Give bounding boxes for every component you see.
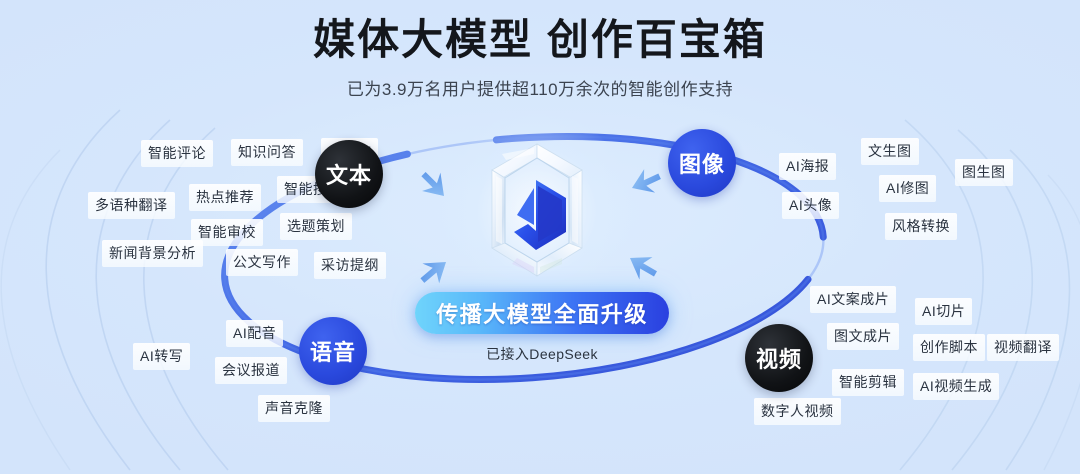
capability-chip-text-9[interactable]: 公文写作 [226,249,298,276]
capability-chip-voice-0[interactable]: AI配音 [226,320,283,347]
hub-node-image-label: 图像 [679,147,725,179]
page-title: 媒体大模型 创作百宝箱 [0,14,1080,67]
capability-chip-video-7[interactable]: 数字人视频 [754,398,841,425]
capability-chip-image-5[interactable]: 风格转换 [885,213,957,240]
capability-chip-video-5[interactable]: 智能剪辑 [832,369,904,396]
capability-chip-text-10[interactable]: 采访提纲 [314,252,386,279]
capability-chip-voice-1[interactable]: AI转写 [133,343,190,370]
capability-chip-text-8[interactable]: 新闻背景分析 [102,240,203,267]
capability-chip-text-0[interactable]: 智能评论 [141,140,213,167]
capability-chip-text-7[interactable]: 选题策划 [280,213,352,240]
page-subtitle: 已为3.9万名用户提供超110万余次的智能创作支持 [0,75,1080,100]
capability-chip-text-1[interactable]: 知识问答 [231,139,303,166]
capability-chip-image-3[interactable]: AI修图 [879,175,936,202]
header: 媒体大模型 创作百宝箱 已为3.9万名用户提供超110万余次的智能创作支持 [0,0,1080,100]
upgrade-badge[interactable]: 传播大模型全面升级 [415,292,669,334]
poster-canvas: 媒体大模型 创作百宝箱 已为3.9万名用户提供超110万余次的智能创作支持 [0,0,1080,474]
capability-chip-image-1[interactable]: 图生图 [955,159,1013,186]
capability-chip-video-2[interactable]: 图文成片 [827,323,899,350]
capability-chip-image-4[interactable]: AI头像 [782,192,839,219]
hub-node-voice-label: 语音 [310,335,356,367]
capability-chip-video-4[interactable]: 视频翻译 [987,334,1059,361]
capability-chip-video-0[interactable]: AI文案成片 [810,286,896,313]
capability-chip-voice-2[interactable]: 会议报道 [215,357,287,384]
capability-chip-video-6[interactable]: AI视频生成 [913,373,999,400]
capability-chip-image-0[interactable]: 文生图 [861,138,919,165]
deepseek-note: 已接入DeepSeek [415,344,669,364]
brand-triangle-logo [514,180,566,250]
capability-chip-video-3[interactable]: 创作脚本 [913,334,985,361]
crystal-cube-icon [472,136,602,286]
capability-chip-image-2[interactable]: AI海报 [779,153,836,180]
capability-chip-voice-3[interactable]: 声音克隆 [258,395,330,422]
capability-chip-video-1[interactable]: AI切片 [915,298,972,325]
hub-node-video[interactable]: 视频 [745,324,813,392]
capability-chip-text-3[interactable]: 多语种翻译 [88,192,175,219]
upgrade-badge-label: 传播大模型全面升级 [436,297,648,329]
capability-chip-text-4[interactable]: 热点推荐 [189,184,261,211]
hub-node-voice[interactable]: 语音 [299,317,367,385]
hub-node-video-label: 视频 [756,342,802,374]
hub-node-image[interactable]: 图像 [668,129,736,197]
hub-node-text[interactable]: 文本 [315,140,383,208]
hub-node-text-label: 文本 [326,158,372,190]
